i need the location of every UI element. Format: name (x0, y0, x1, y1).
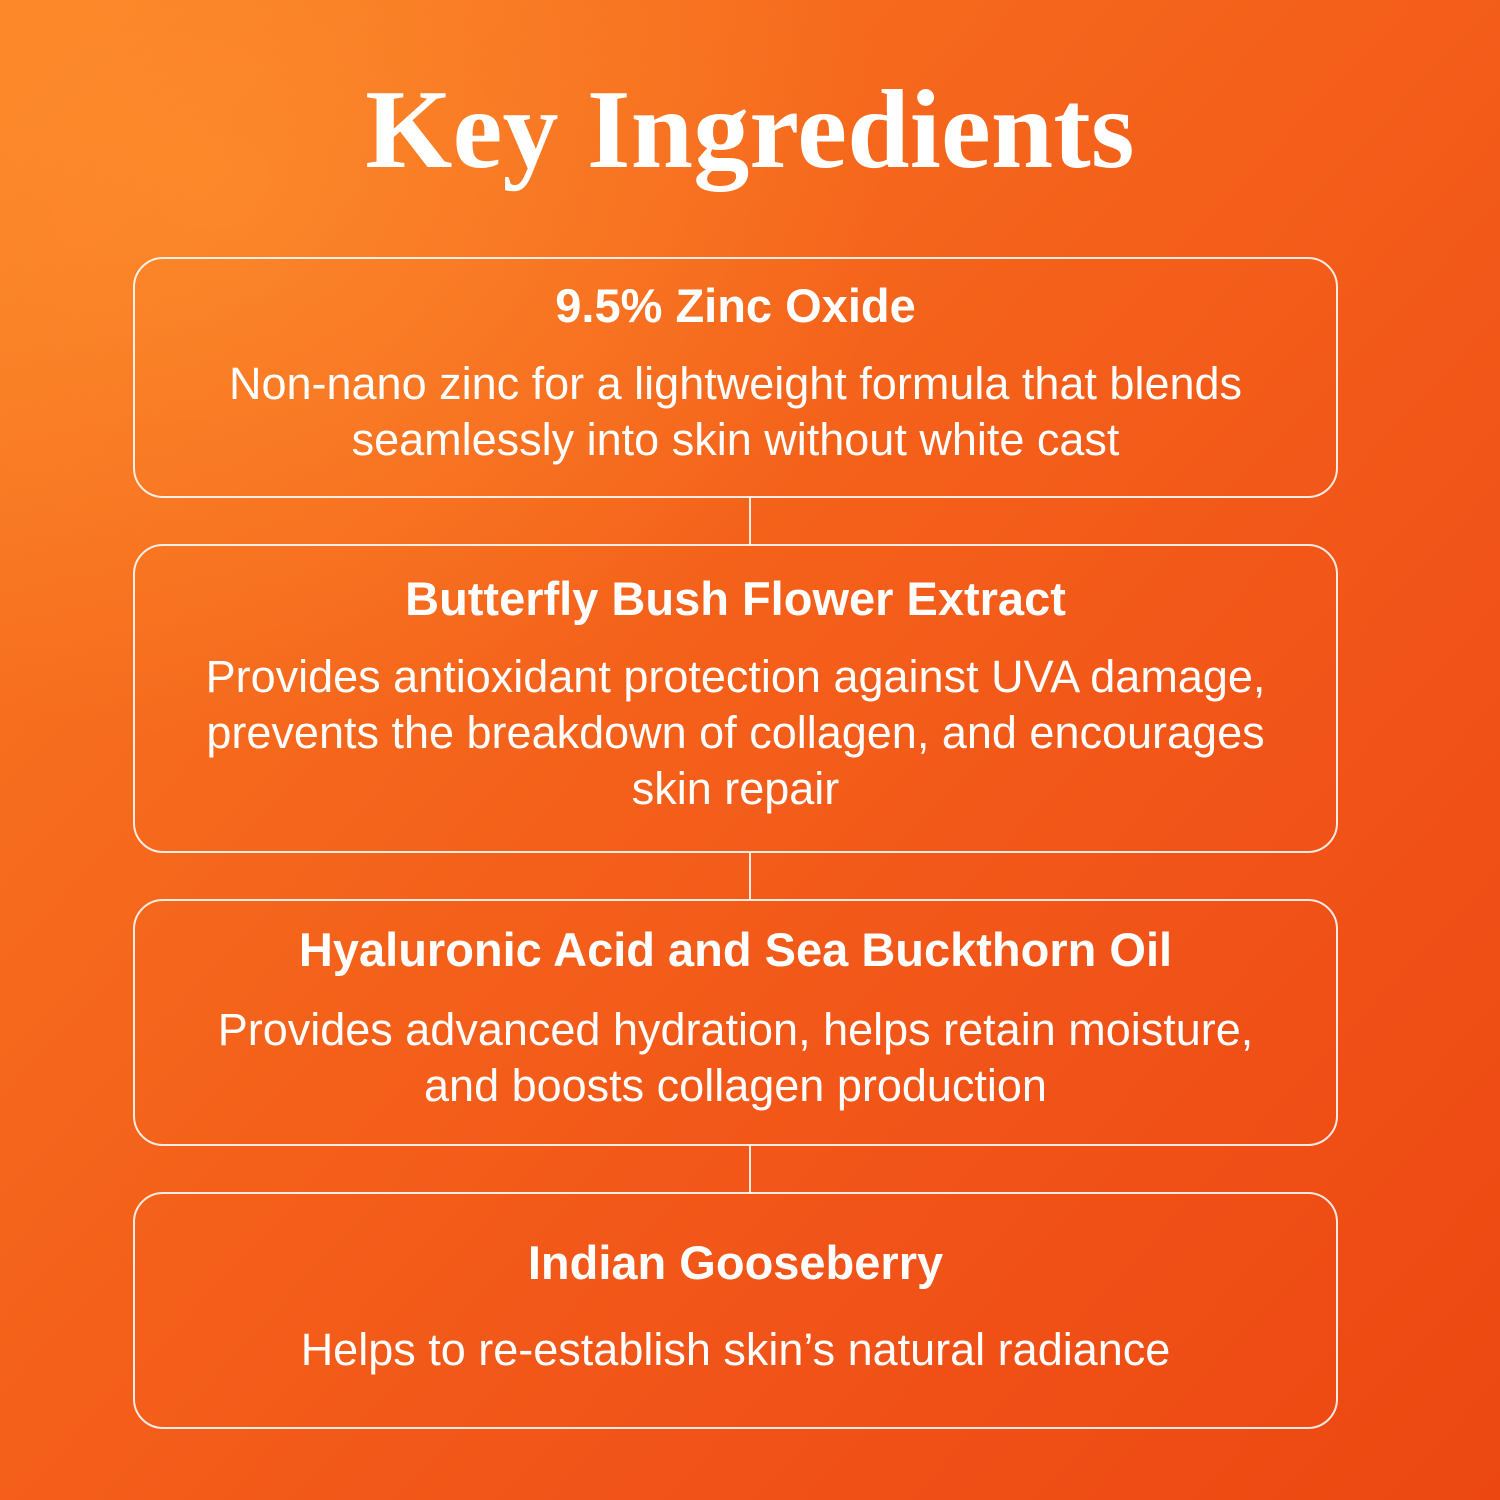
key-ingredients-infographic: Key Ingredients 9.5% Zinc Oxide Non-nano… (0, 0, 1500, 1500)
ingredient-description: Provides advanced hydration, helps retai… (169, 1002, 1302, 1115)
ingredient-heading: Hyaluronic Acid and Sea Buckthorn Oil (169, 924, 1302, 976)
ingredient-card-zinc-oxide: 9.5% Zinc Oxide Non-nano zinc for a ligh… (133, 257, 1338, 498)
card-connector-line-2 (133, 853, 1338, 899)
ingredient-card-hyaluronic-acid-sea-buckthorn-oil: Hyaluronic Acid and Sea Buckthorn Oil Pr… (133, 899, 1338, 1146)
ingredient-heading: Indian Gooseberry (169, 1237, 1302, 1289)
card-connector-line-3 (133, 1146, 1338, 1192)
ingredient-description: Non-nano zinc for a lightweight formula … (169, 356, 1302, 469)
ingredient-heading: Butterfly Bush Flower Extract (169, 573, 1302, 625)
ingredient-card-indian-gooseberry: Indian Gooseberry Helps to re-establish … (133, 1192, 1338, 1429)
page-title: Key Ingredients (0, 74, 1500, 186)
card-connector-line-1 (133, 498, 1338, 544)
page-title-container: Key Ingredients (0, 74, 1500, 186)
ingredient-description: Helps to re-establish skin’s natural rad… (169, 1322, 1302, 1378)
ingredient-card-butterfly-bush-flower-extract: Butterfly Bush Flower Extract Provides a… (133, 544, 1338, 853)
ingredient-heading: 9.5% Zinc Oxide (169, 280, 1302, 332)
ingredient-description: Provides antioxidant protection against … (169, 649, 1302, 818)
ingredient-card-stack: 9.5% Zinc Oxide Non-nano zinc for a ligh… (133, 257, 1338, 1429)
